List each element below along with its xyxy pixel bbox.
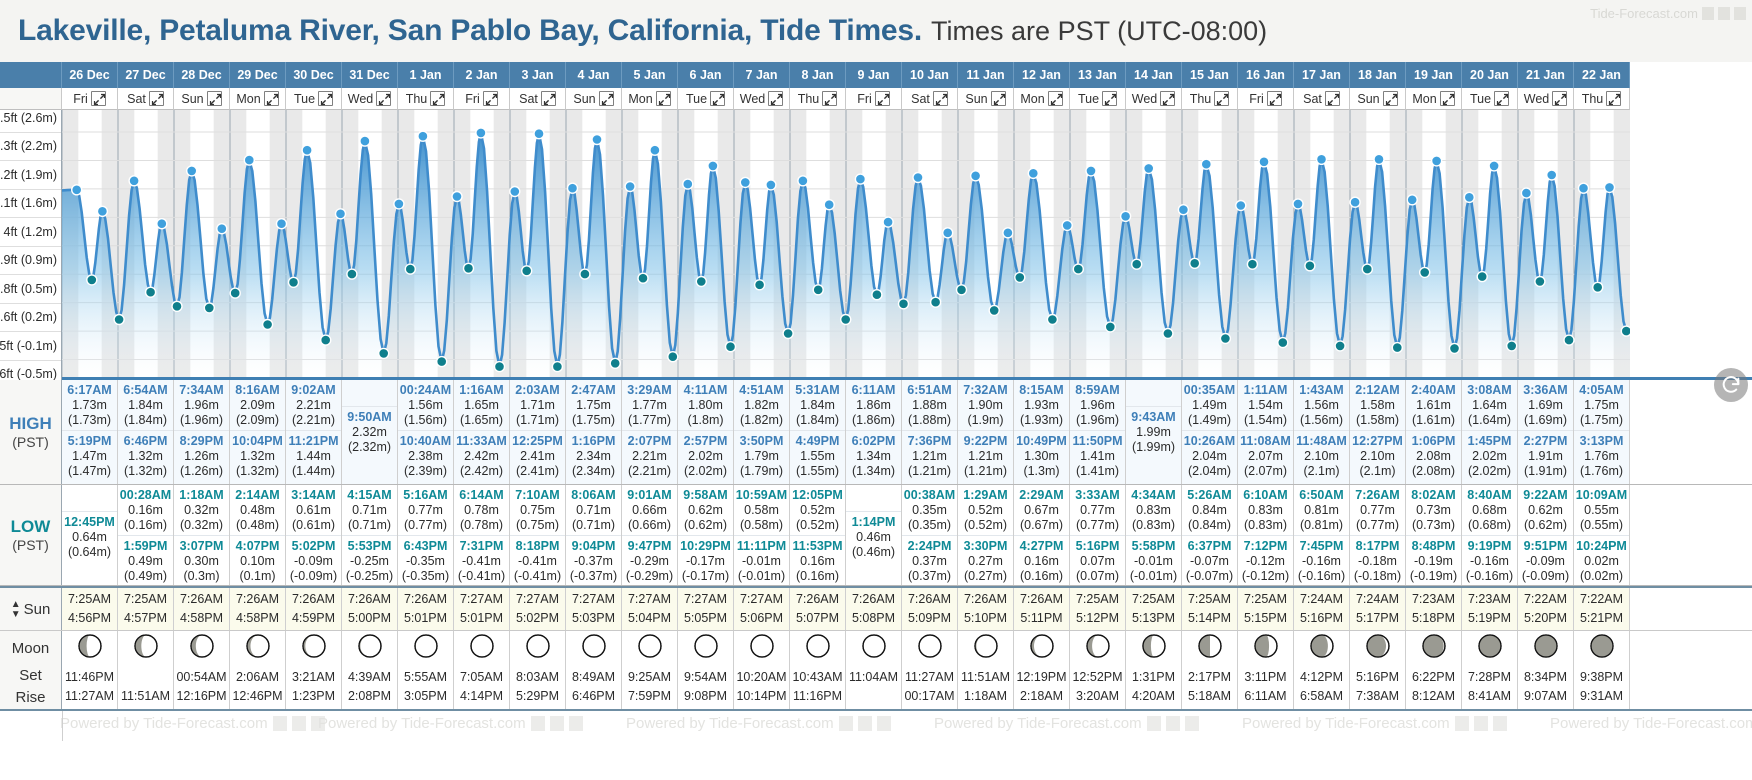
date-header-cell[interactable]: 14 Jan xyxy=(1126,62,1182,88)
expand-icon[interactable] xyxy=(1160,91,1175,106)
date-label: 6 Jan xyxy=(690,68,722,82)
moonset-time: 7:05AM xyxy=(460,668,503,687)
date-header-cell[interactable]: 19 Jan xyxy=(1406,62,1462,88)
weekday-label: Thu xyxy=(406,92,428,106)
high-tide-height-alt: (1.21m) xyxy=(959,464,1012,479)
expand-icon[interactable] xyxy=(1267,91,1282,106)
weekday-header-cell: Fri xyxy=(62,88,118,110)
weekday-header-cell: Tue xyxy=(678,88,734,110)
low-tide-height: 0.71m xyxy=(567,503,620,518)
low-tide-height: 0.16m xyxy=(791,554,844,569)
low-tide-event: 6:10AM0.83m(0.83m) xyxy=(1238,485,1293,535)
high-tide-event: 10:26AM2.04m(2.04m) xyxy=(1182,430,1237,481)
date-label: 17 Jan xyxy=(1302,68,1341,82)
high-tide-height: 1.90m xyxy=(959,398,1012,413)
weekday-label: Tue xyxy=(686,92,707,106)
low-tide-time: 3:30PM xyxy=(959,539,1012,554)
low-tide-height-alt: (0.62m) xyxy=(1519,518,1572,533)
low-tide-cell: 8:06AM0.71m(0.71m)9:04PM-0.37m(-0.37m) xyxy=(566,485,622,585)
timezone-note: Times are PST (UTC-08:00) xyxy=(931,16,1267,47)
low-tide-time: 10:24PM xyxy=(1575,539,1628,554)
expand-icon[interactable] xyxy=(541,91,556,106)
date-header-cell[interactable]: 7 Jan xyxy=(734,62,790,88)
moonrise-time: 1:23PM xyxy=(292,687,335,706)
high-tide-event: 8:16AM2.09m(2.09m) xyxy=(230,380,285,430)
low-tide-time: 7:10AM xyxy=(511,488,564,503)
sunset-time: 5:01PM xyxy=(460,609,503,628)
moon-cell xyxy=(678,631,734,665)
weekday-header-cell: Mon xyxy=(1014,88,1070,110)
high-tide-height: 1.30m xyxy=(1015,449,1068,464)
low-tide-height-alt: (0.46m) xyxy=(847,545,900,560)
high-tide-height: 1.80m xyxy=(679,398,732,413)
sunset-time: 5:20PM xyxy=(1524,609,1567,628)
expand-icon[interactable] xyxy=(710,91,725,106)
date-header-cell[interactable]: 3 Jan xyxy=(510,62,566,88)
y-axis-tick: -1.6ft (-0.5m) xyxy=(0,367,57,381)
y-axis-separator xyxy=(0,360,61,361)
date-header-cell[interactable]: 8 Jan xyxy=(790,62,846,88)
moon-setrise-cell: 11:04AM xyxy=(846,665,902,709)
moon-phase-icon xyxy=(749,633,775,664)
high-tide-event: 1:45PM2.02m(2.02m) xyxy=(1462,430,1517,481)
date-header-cell[interactable]: 21 Jan xyxy=(1518,62,1574,88)
sunrise-time: 7:22AM xyxy=(1524,590,1567,609)
sunset-time: 5:13PM xyxy=(1132,609,1175,628)
weekday-header-cell: Sat xyxy=(510,88,566,110)
high-tide-time: 5:31AM xyxy=(791,383,844,398)
expand-icon[interactable] xyxy=(1383,91,1398,106)
date-header-cell[interactable]: 5 Jan xyxy=(622,62,678,88)
expand-icon[interactable] xyxy=(768,91,783,106)
low-tide-cell: 7:10AM0.75m(0.75m)8:18PM-0.41m(-0.41m) xyxy=(510,485,566,585)
expand-icon[interactable] xyxy=(1214,91,1229,106)
high-tide-event: 1:11AM1.54m(1.54m) xyxy=(1238,380,1293,430)
sunset-time: 4:59PM xyxy=(292,609,335,628)
expand-icon[interactable] xyxy=(1494,91,1509,106)
high-tide-height: 1.58m xyxy=(1351,398,1404,413)
low-tide-event: 9:01AM0.66m(0.66m) xyxy=(622,485,677,535)
low-tide-height-alt: (-0.09m) xyxy=(287,569,340,584)
high-tide-time: 1:45PM xyxy=(1463,434,1516,449)
low-tide-time: 12:45PM xyxy=(63,515,116,530)
moon-label-text: Moon xyxy=(12,640,50,657)
expand-icon[interactable] xyxy=(264,91,279,106)
sun-cell: 7:27AM5:03PM xyxy=(566,588,622,630)
high-tide-cell: 3:08AM1.64m(1.64m)1:45PM2.02m(2.02m) xyxy=(1462,380,1518,484)
moonrise-time: 5:18AM xyxy=(1188,687,1231,706)
footer-attribution: Powered by Tide-Forecast.com xyxy=(318,715,583,732)
footer-icon-1 xyxy=(1147,716,1161,731)
sunrise-time: 7:25AM xyxy=(68,590,111,609)
high-tide-event: 10:49PM1.30m(1.3m) xyxy=(1014,430,1069,481)
high-tide-time: 11:08AM xyxy=(1239,434,1292,449)
high-tide-event: 3:08AM1.64m(1.64m) xyxy=(1462,380,1517,430)
date-label: 22 Jan xyxy=(1582,68,1621,82)
sunrise-time: 7:26AM xyxy=(180,590,223,609)
moonrise-time: 8:12AM xyxy=(1412,687,1455,706)
sunrise-time: 7:26AM xyxy=(964,590,1007,609)
low-tide-time: 5:58PM xyxy=(1127,539,1180,554)
rise-label-text: Rise xyxy=(15,687,45,709)
low-tide-height-alt: (0.16m) xyxy=(791,569,844,584)
date-label: 18 Jan xyxy=(1358,68,1397,82)
date-header-cell[interactable]: 15 Jan xyxy=(1182,62,1238,88)
high-tide-height: 1.71m xyxy=(511,398,564,413)
sunset-time: 4:56PM xyxy=(68,609,111,628)
sun-cell: 7:26AM4:59PM xyxy=(286,588,342,630)
low-tide-time: 10:29PM xyxy=(679,539,732,554)
low-tide-height-alt: (0.61m) xyxy=(287,518,340,533)
sun-cell: 7:25AM5:12PM xyxy=(1070,588,1126,630)
moon-cell xyxy=(174,631,230,665)
moonset-time: 10:43AM xyxy=(792,668,842,687)
low-tide-height: 0.77m xyxy=(1351,503,1404,518)
expand-icon[interactable] xyxy=(91,91,106,106)
high-tide-time: 11:48AM xyxy=(1295,434,1348,449)
date-header-cell[interactable]: 13 Jan xyxy=(1070,62,1126,88)
weekday-header-cell: Sat xyxy=(118,88,174,110)
low-tide-height: 0.81m xyxy=(1295,503,1348,518)
expand-icon[interactable] xyxy=(1048,91,1063,106)
moon-setrise-cell: 2:06AM12:46PM xyxy=(230,665,286,709)
sun-cell: 7:27AM5:02PM xyxy=(510,588,566,630)
low-tide-height-alt: (0.16m) xyxy=(1015,569,1068,584)
moon-phase-icon xyxy=(469,633,495,664)
expand-icon[interactable] xyxy=(1440,91,1455,106)
high-tide-time: 4:05AM xyxy=(1575,383,1628,398)
expand-icon[interactable] xyxy=(149,91,164,106)
low-tide-time: 00:38AM xyxy=(903,488,956,503)
low-tide-height: -0.41m xyxy=(511,554,564,569)
date-header-cell[interactable]: 27 Dec xyxy=(118,62,174,88)
expand-icon[interactable] xyxy=(376,91,391,106)
date-header-cell[interactable]: 9 Jan xyxy=(846,62,902,88)
date-header-cell[interactable]: 6 Jan xyxy=(678,62,734,88)
low-tide-height: 0.16m xyxy=(119,503,172,518)
date-header-row: 26 Dec27 Dec28 Dec29 Dec30 Dec31 Dec1 Ja… xyxy=(0,62,1752,88)
low-tide-height: 0.61m xyxy=(287,503,340,518)
refresh-icon[interactable] xyxy=(1714,368,1748,402)
sunrise-time: 7:27AM xyxy=(684,590,727,609)
low-tide-event: 8:06AM0.71m(0.71m) xyxy=(566,485,621,535)
high-tide-height-alt: (1.61m) xyxy=(1407,413,1460,428)
low-tide-height-alt: (-0.01m) xyxy=(1127,569,1180,584)
high-tide-height-alt: (1.79m) xyxy=(735,464,788,479)
low-tide-height-alt: (-0.25m) xyxy=(343,569,396,584)
y-axis-separator xyxy=(0,217,61,218)
low-tide-height: 0.83m xyxy=(1127,503,1180,518)
low-tide-height-alt: (0.83m) xyxy=(1239,518,1292,533)
sunset-time: 4:57PM xyxy=(124,609,167,628)
weekday-label: Sun xyxy=(573,92,595,106)
low-tide-time: 00:28AM xyxy=(119,488,172,503)
sun-cell: 7:22AM5:20PM xyxy=(1518,588,1574,630)
expand-icon[interactable] xyxy=(599,91,614,106)
low-tide-time: 1:29AM xyxy=(959,488,1012,503)
high-tide-time: 2:40AM xyxy=(1407,383,1460,398)
high-tide-time: 9:22PM xyxy=(959,434,1012,449)
watermark-icon-1 xyxy=(1702,7,1714,20)
low-tide-cell: 8:02AM0.73m(0.73m)8:48PM-0.19m(-0.19m) xyxy=(1406,485,1462,585)
low-tide-height: -0.17m xyxy=(679,554,732,569)
moon-setrise-cell: 7:05AM4:14PM xyxy=(454,665,510,709)
expand-icon[interactable] xyxy=(656,91,671,106)
low-tide-height: 0.77m xyxy=(1071,503,1124,518)
moon-phase-icon xyxy=(301,633,327,664)
high-tide-event: 10:40AM2.38m(2.39m) xyxy=(398,430,453,481)
footer-divider xyxy=(62,711,63,741)
corner-cell xyxy=(0,62,62,88)
footer-icon-1 xyxy=(1455,716,1469,731)
low-tide-height: -0.09m xyxy=(287,554,340,569)
high-tide-height: 2.42m xyxy=(455,449,508,464)
date-header-cell[interactable]: 4 Jan xyxy=(566,62,622,88)
high-tide-height-alt: (1.21m) xyxy=(903,464,956,479)
high-tide-time: 3:29AM xyxy=(623,383,676,398)
footer-icon-1 xyxy=(531,716,545,731)
high-tide-event: 1:43AM1.56m(1.56m) xyxy=(1294,380,1349,430)
moonset-time: 00:54AM xyxy=(176,668,226,687)
date-header-cell[interactable]: 18 Jan xyxy=(1350,62,1406,88)
high-tide-height: 1.21m xyxy=(959,449,1012,464)
low-tide-height-alt: (0.48m) xyxy=(231,518,284,533)
sun-up-arrow-icon: ▲ xyxy=(11,601,21,608)
date-label: 10 Jan xyxy=(910,68,949,82)
sun-cell: 7:26AM5:08PM xyxy=(846,588,902,630)
moon-setrise-cell: 12:52PM3:20AM xyxy=(1070,665,1126,709)
moon-phase-icon xyxy=(805,633,831,664)
high-tide-height-alt: (1.32m) xyxy=(231,464,284,479)
low-tide-cells: 12:45PM0.64m(0.64m)00:28AM0.16m(0.16m)1:… xyxy=(62,485,1752,585)
weekday-header-cell: Tue xyxy=(1462,88,1518,110)
date-header-cell[interactable]: 28 Dec xyxy=(174,62,230,88)
date-header-cell[interactable]: 29 Dec xyxy=(230,62,286,88)
high-tide-height-alt: (1.99m) xyxy=(1127,440,1180,455)
date-header-cell[interactable]: 12 Jan xyxy=(1014,62,1070,88)
moonrise-time: 3:20AM xyxy=(1076,687,1119,706)
moon-cell xyxy=(566,631,622,665)
low-tide-height-alt: (-0.18m) xyxy=(1351,569,1404,584)
page-title-bar: Lakeville, Petaluma River, San Pablo Bay… xyxy=(0,0,1752,62)
y-axis-separator xyxy=(0,189,61,190)
low-tide-height-alt: (0.84m) xyxy=(1183,518,1236,533)
high-tide-cell: 6:11AM1.86m(1.86m)6:02PM1.34m(1.34m) xyxy=(846,380,902,484)
high-tide-height: 1.82m xyxy=(735,398,788,413)
low-tide-height: -0.35m xyxy=(399,554,452,569)
date-header-cell[interactable]: 30 Dec xyxy=(286,62,342,88)
sunset-time: 5:01PM xyxy=(404,609,447,628)
high-tide-event: 10:04PM1.32m(1.32m) xyxy=(230,430,285,481)
moon-cell xyxy=(622,631,678,665)
expand-icon[interactable] xyxy=(483,91,498,106)
y-axis-separator xyxy=(0,331,61,332)
moonset-time: 3:21AM xyxy=(292,668,335,687)
low-tide-height: 0.16m xyxy=(1015,554,1068,569)
date-header-cell[interactable]: 31 Dec xyxy=(342,62,398,88)
expand-icon[interactable] xyxy=(933,91,948,106)
moonrise-time: 3:05PM xyxy=(404,687,447,706)
sunrise-time: 7:26AM xyxy=(1020,590,1063,609)
date-header-cell[interactable]: 20 Jan xyxy=(1462,62,1518,88)
low-tide-time: 5:16PM xyxy=(1071,539,1124,554)
expand-icon[interactable] xyxy=(1552,91,1567,106)
low-tide-cell: 9:22AM0.62m(0.62m)9:51PM-0.09m(-0.09m) xyxy=(1518,485,1574,585)
high-tide-height: 1.75m xyxy=(1575,398,1628,413)
low-tide-height-alt: (0.77m) xyxy=(399,518,452,533)
moon-phase-icon xyxy=(525,633,551,664)
moon-label-cell: Moon xyxy=(0,631,62,665)
high-tide-height-alt: (1.58m) xyxy=(1351,413,1404,428)
moon-phase-icon xyxy=(189,633,215,664)
low-tide-event: 2:24PM0.37m(0.37m) xyxy=(902,535,957,586)
y-axis-tick: 2.9ft (0.9m) xyxy=(0,253,57,267)
high-tide-time: 6:51AM xyxy=(903,383,956,398)
weekday-header-cell: Sat xyxy=(902,88,958,110)
date-header-cell[interactable]: 16 Jan xyxy=(1238,62,1294,88)
high-tide-cell: 2:40AM1.61m(1.61m)1:06PM2.08m(2.08m) xyxy=(1406,380,1462,484)
sunrise-time: 7:23AM xyxy=(1468,590,1511,609)
moonset-time: 8:34PM xyxy=(1524,668,1567,687)
weekday-header-cell: Sun xyxy=(958,88,1014,110)
high-tide-event: 9:50AM2.32m(2.32m) xyxy=(342,406,397,457)
high-tide-height-alt: (2.41m) xyxy=(511,464,564,479)
date-header-cell[interactable]: 22 Jan xyxy=(1574,62,1630,88)
high-tide-cell: 2:47AM1.75m(1.75m)1:16PM2.34m(2.34m) xyxy=(566,380,622,484)
expand-icon[interactable] xyxy=(318,91,333,106)
moon-cell xyxy=(286,631,342,665)
high-tide-height: 2.02m xyxy=(1463,449,1516,464)
moon-cell xyxy=(62,631,118,665)
low-tide-time: 4:15AM xyxy=(343,488,396,503)
low-tide-cell: 4:34AM0.83m(0.83m)5:58PM-0.01m(-0.01m) xyxy=(1126,485,1182,585)
high-tide-event: 00:35AM1.49m(1.49m) xyxy=(1182,380,1237,430)
footer-icon-2 xyxy=(858,716,872,731)
high-tide-height: 1.91m xyxy=(1519,449,1572,464)
moonrise-time: 11:27AM xyxy=(65,687,114,706)
moon-cell xyxy=(342,631,398,665)
low-tide-height-alt: (-0.37m) xyxy=(567,569,620,584)
weekday-label: Sat xyxy=(519,92,538,106)
high-tide-time: 4:51AM xyxy=(735,383,788,398)
low-tide-height-alt: (0.68m) xyxy=(1463,518,1516,533)
high-tide-height: 1.96m xyxy=(1071,398,1124,413)
sun-cell: 7:26AM5:11PM xyxy=(1014,588,1070,630)
moon-phase-icon xyxy=(861,633,887,664)
date-header-cell[interactable]: 1 Jan xyxy=(398,62,454,88)
high-tide-height: 2.10m xyxy=(1351,449,1404,464)
high-tide-cell: 7:34AM1.96m(1.96m)8:29PM1.26m(1.26m) xyxy=(174,380,230,484)
high-tide-event: 6:54AM1.84m(1.84m) xyxy=(118,380,173,430)
low-tide-height-alt: (0.16m) xyxy=(119,518,172,533)
moonset-time: 8:03AM xyxy=(516,668,559,687)
expand-icon[interactable] xyxy=(1325,91,1340,106)
date-header-cell[interactable]: 26 Dec xyxy=(62,62,118,88)
moon-setrise-cell: 4:12PM6:58AM xyxy=(1294,665,1350,709)
date-label: 4 Jan xyxy=(578,68,610,82)
date-header-cell[interactable]: 17 Jan xyxy=(1294,62,1350,88)
expand-icon[interactable] xyxy=(991,91,1006,106)
sun-cell: 7:26AM5:09PM xyxy=(902,588,958,630)
low-tide-height: -0.29m xyxy=(623,554,676,569)
set-label-text: Set xyxy=(19,665,42,687)
y-axis-separator xyxy=(0,160,61,161)
low-tide-event: 12:45PM0.64m(0.64m) xyxy=(62,511,117,562)
sunrise-time: 7:26AM xyxy=(236,590,279,609)
low-tide-height: 0.75m xyxy=(511,503,564,518)
high-tide-height-alt: (1.73m) xyxy=(63,413,116,428)
low-tide-event: 10:24PM0.02m(0.02m) xyxy=(1574,535,1629,586)
low-tide-time: 11:53PM xyxy=(791,539,844,554)
expand-icon[interactable] xyxy=(207,91,222,106)
date-label: 21 Jan xyxy=(1526,68,1565,82)
expand-icon[interactable] xyxy=(430,91,445,106)
low-tide-time: 3:33AM xyxy=(1071,488,1124,503)
sunset-time: 5:07PM xyxy=(796,609,839,628)
low-tide-height: 0.10m xyxy=(231,554,284,569)
moon-phase-icon xyxy=(357,633,383,664)
low-tide-label-cell: LOW (PST) xyxy=(0,485,62,585)
low-tide-time: 7:45PM xyxy=(1295,539,1348,554)
moon-phase-icon xyxy=(917,633,943,664)
low-tide-height: 0.32m xyxy=(175,503,228,518)
date-header-cell[interactable]: 10 Jan xyxy=(902,62,958,88)
low-tide-label-text: LOW xyxy=(11,516,51,537)
watermark-text: Tide-Forecast.com xyxy=(1590,6,1698,21)
low-tide-height: 0.55m xyxy=(1575,503,1628,518)
date-header-cell[interactable]: 2 Jan xyxy=(454,62,510,88)
high-tide-event: 5:31AM1.84m(1.84m) xyxy=(790,380,845,430)
expand-icon[interactable] xyxy=(822,91,837,106)
high-tide-height: 1.64m xyxy=(1463,398,1516,413)
sun-cell: 7:26AM5:07PM xyxy=(790,588,846,630)
y-axis-separator xyxy=(0,274,61,275)
moonrise-time: 9:31AM xyxy=(1580,687,1623,706)
high-tide-event: 3:50PM1.79m(1.79m) xyxy=(734,430,789,481)
moon-setrise-cell: 8:49AM6:46PM xyxy=(566,665,622,709)
sun-cell: 7:25AM4:56PM xyxy=(62,588,118,630)
weekday-label: Thu xyxy=(798,92,820,106)
low-tide-cell: 00:28AM0.16m(0.16m)1:59PM0.49m(0.49m) xyxy=(118,485,174,585)
y-axis-tick: 5.1ft (1.6m) xyxy=(0,196,57,210)
header-watermark: Tide-Forecast.com xyxy=(1590,6,1746,21)
expand-icon[interactable] xyxy=(875,91,890,106)
low-tide-height-alt: (0.67m) xyxy=(1015,518,1068,533)
high-tide-height-alt: (1.9m) xyxy=(959,413,1012,428)
date-label: 8 Jan xyxy=(802,68,834,82)
weekday-header-cell: Thu xyxy=(1182,88,1238,110)
high-tide-height-alt: (2.39m) xyxy=(399,464,452,479)
high-tide-time: 00:24AM xyxy=(399,383,452,398)
date-label: 28 Dec xyxy=(181,68,221,82)
weekday-label: Wed xyxy=(1132,92,1157,106)
moon-row: Moon xyxy=(0,631,1752,665)
moon-phase-icon xyxy=(413,633,439,664)
low-tide-cell: 12:05PM0.52m(0.52m)11:53PM0.16m(0.16m) xyxy=(790,485,846,585)
high-tide-height: 1.32m xyxy=(119,449,172,464)
expand-icon[interactable] xyxy=(1606,91,1621,106)
low-tide-height-alt: (0.83m) xyxy=(1127,518,1180,533)
weekday-label: Sat xyxy=(911,92,930,106)
expand-icon[interactable] xyxy=(1102,91,1117,106)
sunrise-time: 7:26AM xyxy=(348,590,391,609)
low-tide-height: -0.16m xyxy=(1295,554,1348,569)
date-header-cell[interactable]: 11 Jan xyxy=(958,62,1014,88)
moonset-time: 2:17PM xyxy=(1188,668,1231,687)
weekday-label: Fri xyxy=(465,92,480,106)
moon-phase-icon xyxy=(1365,633,1391,664)
high-tide-time: 10:49PM xyxy=(1015,434,1068,449)
